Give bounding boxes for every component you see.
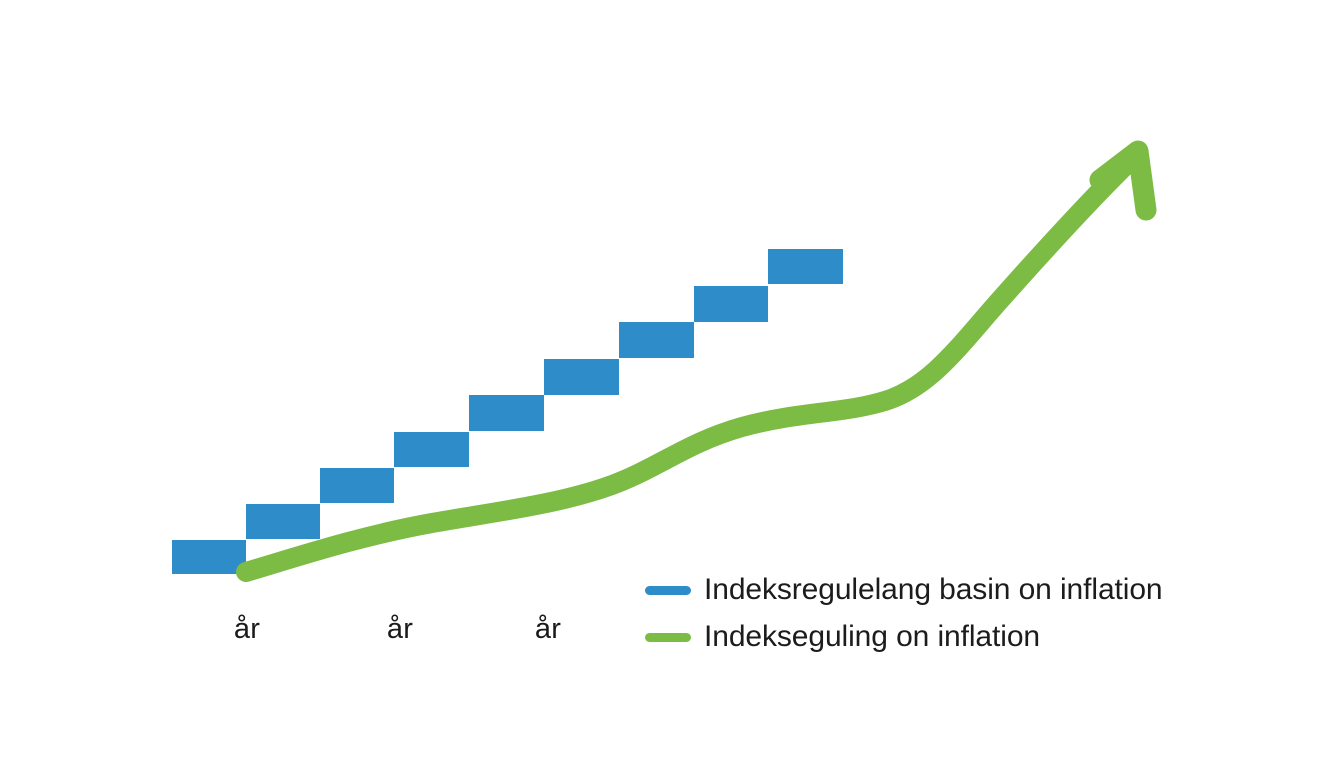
legend-item-blue[interactable]: Indeksregulelang basin on inflation [645, 572, 1163, 608]
blue-step-blocks-series [172, 249, 843, 574]
legend-swatch-blue-icon [645, 586, 691, 595]
legend-label-green: Indekseguling on inflation [704, 622, 1040, 652]
x-axis-tick-year-3: år [535, 613, 561, 646]
green-trend-line-series [246, 151, 1146, 572]
legend-item-green[interactable]: Indekseguling on inflation [645, 619, 1163, 655]
legend-swatch-green-icon [645, 633, 691, 642]
green-trend-line [246, 160, 1131, 572]
step-block [694, 286, 768, 322]
step-block [394, 432, 469, 467]
step-block [172, 540, 246, 574]
x-axis-tick-year-1: år [234, 613, 260, 646]
step-block [246, 504, 320, 539]
step-block [619, 322, 694, 358]
step-block [544, 359, 619, 395]
legend-label-blue: Indeksregulelang basin on inflation [704, 575, 1163, 605]
step-block [469, 395, 544, 431]
step-block [768, 249, 843, 284]
chart-canvas: år år år Indeksregulelang basin on infla… [0, 0, 1344, 768]
x-axis-tick-year-2: år [387, 613, 413, 646]
step-block [320, 468, 394, 503]
chart-legend: Indeksregulelang basin on inflation Inde… [645, 572, 1163, 655]
